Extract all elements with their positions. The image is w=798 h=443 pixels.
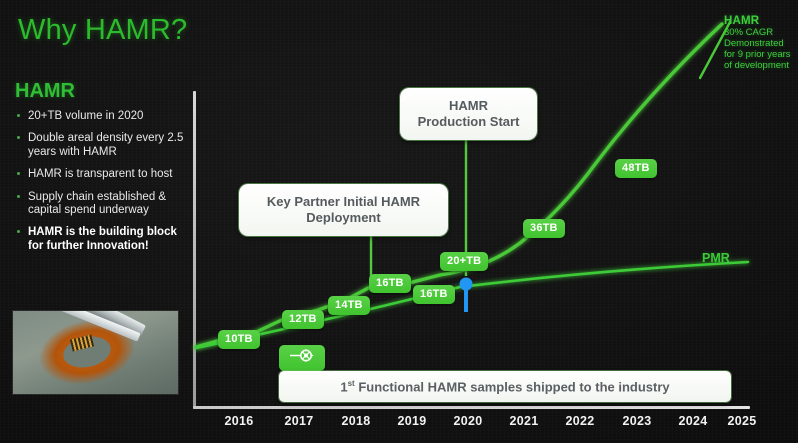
x-axis-tick-2025: 2025 — [727, 414, 756, 428]
capacity-pill-12tb: 12TB — [282, 310, 324, 329]
banner-text: Functional HAMR samples shipped to the i… — [355, 379, 670, 394]
annotation-hamr-cagr: HAMR 30% CAGR Demonstrated for 9 prior y… — [724, 16, 791, 71]
callout-line-1: HAMR — [406, 98, 531, 114]
x-axis-tick-2018: 2018 — [341, 414, 370, 428]
capacity-pill-14tb: 14TB — [328, 296, 370, 315]
cagr-line-3: for 9 prior years — [724, 49, 791, 60]
cagr-title: HAMR — [724, 16, 791, 27]
x-axis-tick-2017: 2017 — [284, 414, 313, 428]
x-axis-tick-2020: 2020 — [453, 414, 482, 428]
callout-hamr-production-start[interactable]: HAMR Production Start — [400, 88, 537, 140]
x-axis-tick-2023: 2023 — [622, 414, 651, 428]
capacity-pill-20plustb: 20+TB — [440, 252, 488, 271]
cagr-line-2: Demonstrated — [724, 38, 791, 49]
banner-ordinal-suffix: st — [348, 379, 355, 388]
pmr-series-label: PMR — [702, 251, 730, 265]
banner-prefix: 1 — [340, 379, 347, 394]
callout-line-2: Production Start — [406, 114, 531, 130]
capacity-pill-16tb: 16TB — [369, 274, 411, 293]
callout-line-1: Key Partner Initial HAMR — [245, 194, 442, 210]
cagr-line-1: 30% CAGR — [724, 27, 791, 38]
x-axis-tick-2024: 2024 — [678, 414, 707, 428]
cagr-line-4: of development — [724, 60, 791, 71]
callout-line-2: Deployment — [245, 210, 442, 226]
x-axis-tick-2021: 2021 — [509, 414, 538, 428]
pmr-curve — [196, 262, 748, 348]
x-axis-tick-2022: 2022 — [565, 414, 594, 428]
callout-key-partner-deployment[interactable]: Key Partner Initial HAMR Deployment — [239, 184, 448, 236]
x-axis-tick-2016: 2016 — [224, 414, 253, 428]
capacity-pill-36tb: 36TB — [523, 219, 565, 238]
slide-root: Why HAMR? HAMR 20+TB volume in 2020Doubl… — [0, 0, 798, 443]
banner-first-functional-samples[interactable]: 1st Functional HAMR samples shipped to t… — [279, 371, 731, 402]
capacity-pill-16tb: 16TB — [413, 285, 455, 304]
laser-icon — [289, 349, 315, 362]
capacity-pill-10tb: 10TB — [218, 330, 260, 349]
x-axis-tick-2019: 2019 — [397, 414, 426, 428]
capacity-pill-48tb: 48TB — [615, 159, 657, 178]
today-marker-dot — [460, 278, 473, 291]
laser-icon-pill — [279, 345, 325, 371]
